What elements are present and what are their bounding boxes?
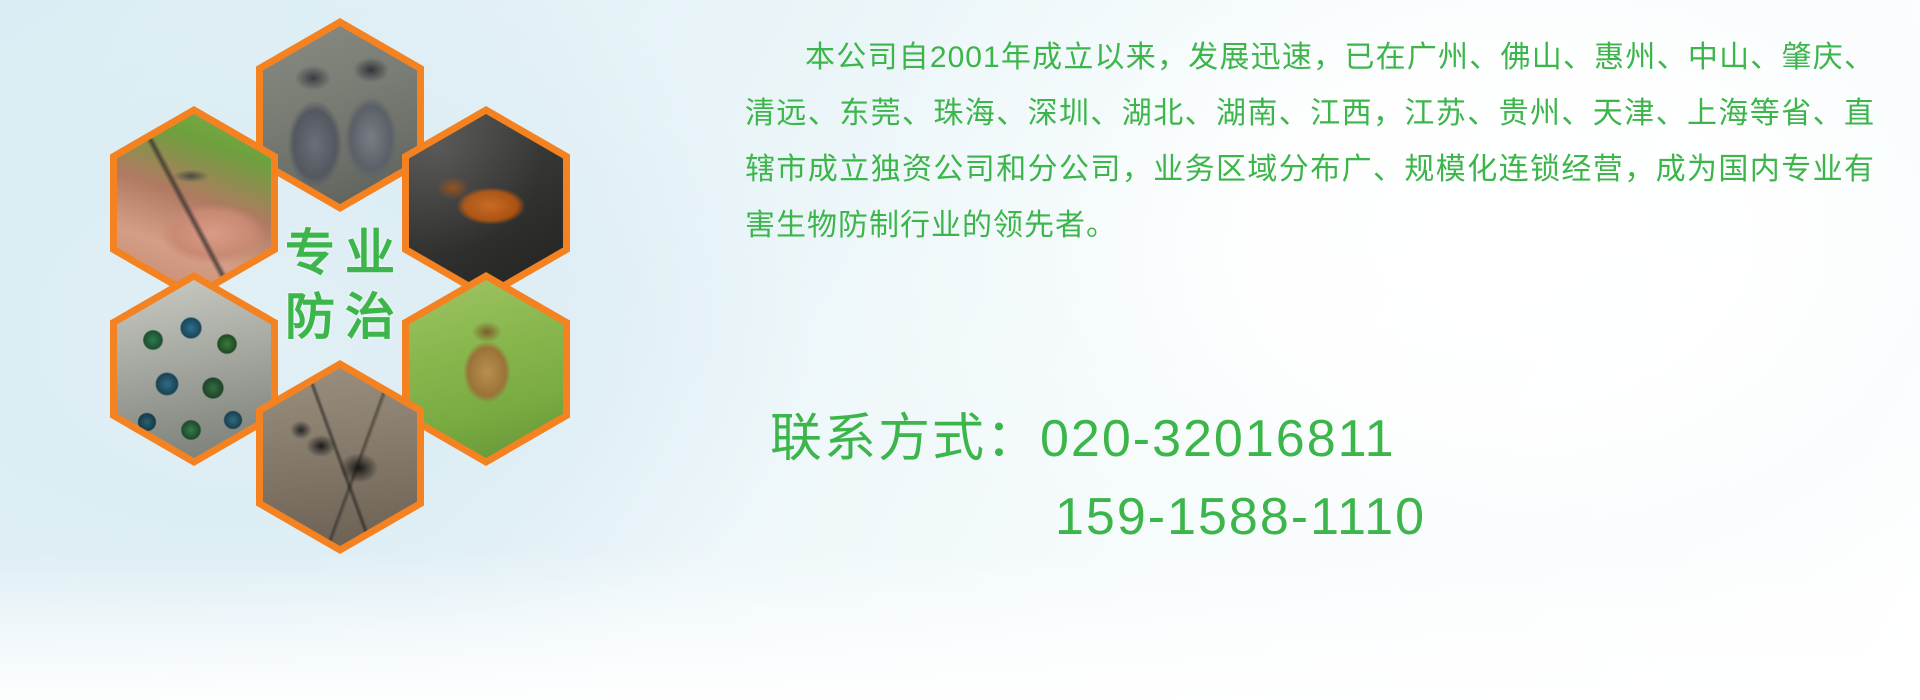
company-intro-paragraph: 本公司自2001年成立以来，发展迅速，已在广州、佛山、惠州、中山、肇庆、清远、东… bbox=[745, 30, 1875, 254]
slogan-line-2: 防治 bbox=[275, 292, 405, 342]
hex-image-frame-cockroach bbox=[409, 114, 563, 292]
rats-photo bbox=[263, 26, 417, 204]
cockroach-photo bbox=[409, 114, 563, 292]
hex-image-frame-flies bbox=[117, 280, 271, 458]
hex-cell-flies bbox=[110, 272, 278, 466]
hex-cell-rats bbox=[256, 18, 424, 212]
stinkbug-photo bbox=[409, 280, 563, 458]
hex-center-slogan: 专业 防治 bbox=[256, 188, 424, 382]
contact-phone-primary[interactable]: 020-32016811 bbox=[1040, 410, 1396, 468]
hex-cell-ant bbox=[256, 360, 424, 554]
hex-image-frame-stinkbug bbox=[409, 280, 563, 458]
hex-image-frame-rats bbox=[263, 26, 417, 204]
contact-phone-secondary[interactable]: 159-1588-1110 bbox=[770, 478, 1426, 556]
ant-photo bbox=[263, 368, 417, 546]
contact-label: 联系方式： bbox=[770, 410, 1040, 468]
hexagon-pest-collage: 专业 防治 bbox=[90, 10, 590, 570]
hex-cell-mosquito bbox=[110, 106, 278, 300]
contact-block: 联系方式：020-32016811 159-1588-1110 bbox=[770, 400, 1426, 556]
slogan-line-1: 专业 bbox=[275, 228, 405, 278]
mosquito-photo bbox=[117, 114, 271, 292]
hex-image-frame-mosquito bbox=[117, 114, 271, 292]
company-intro-banner: 专业 防治 本公司自2001年成立以来，发展迅速，已在广州、佛山、惠州、中山、肇… bbox=[0, 0, 1920, 700]
hex-cell-stinkbug bbox=[402, 272, 570, 466]
hex-cell-cockroach bbox=[402, 106, 570, 300]
flies-photo bbox=[117, 280, 271, 458]
hex-image-frame-ant bbox=[263, 368, 417, 546]
company-copy-block: 本公司自2001年成立以来，发展迅速，已在广州、佛山、惠州、中山、肇庆、清远、东… bbox=[745, 30, 1875, 254]
